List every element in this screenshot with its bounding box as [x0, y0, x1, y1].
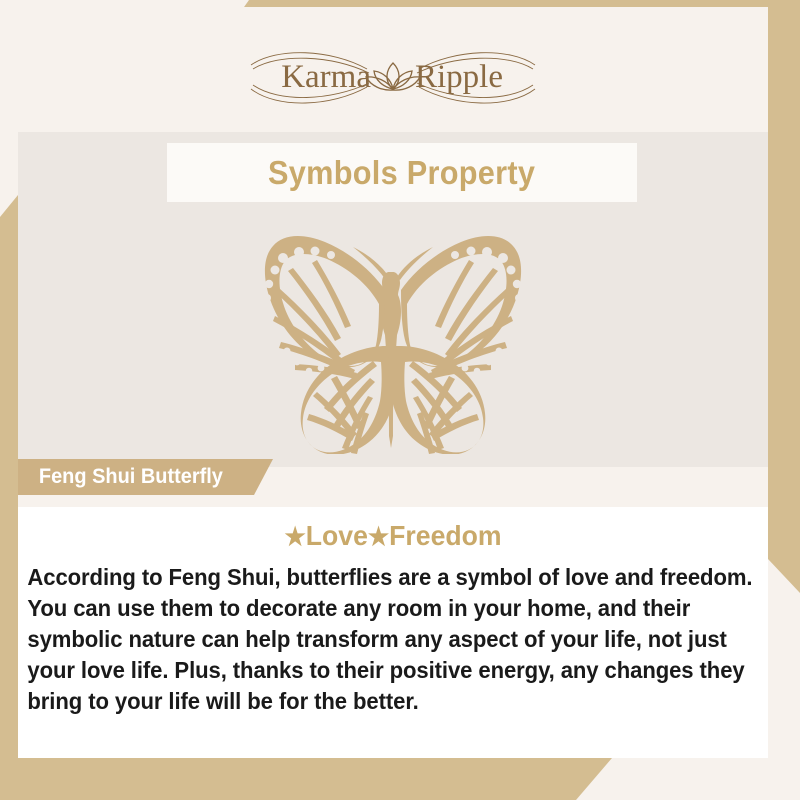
frame-right-accent	[768, 48, 800, 593]
content-card: Karma Ripple Symbols Property	[18, 7, 768, 758]
frame-left-accent	[0, 195, 18, 765]
description-paragraph: According to Feng Shui, butterflies are …	[18, 552, 753, 717]
description-panel: ★Love★Freedom According to Feng Shui, bu…	[18, 507, 768, 758]
keyword-love: Love	[306, 520, 368, 551]
keywords-heading: ★Love★Freedom	[37, 507, 750, 552]
star-icon-left: ★	[284, 523, 305, 551]
category-tab-label: Feng Shui Butterfly	[18, 465, 223, 489]
hero-section: Symbols Property	[18, 132, 768, 467]
logo-word-ripple: Ripple	[415, 59, 503, 95]
category-tab[interactable]: Feng Shui Butterfly	[18, 459, 273, 495]
star-icon-right: ★	[368, 523, 389, 551]
page-root: Karma Ripple Symbols Property	[0, 0, 800, 800]
karma-ripple-logo-icon: Karma Ripple	[243, 43, 543, 113]
page-title: Symbols Property	[268, 154, 535, 192]
page-title-banner: Symbols Property	[167, 143, 637, 202]
frame-bottom-accent	[0, 758, 612, 800]
butterfly-illustration	[18, 224, 768, 464]
butterfly-icon	[217, 234, 569, 454]
logo-word-karma: Karma	[281, 59, 371, 95]
brand-logo: Karma Ripple	[18, 39, 768, 117]
keyword-freedom: Freedom	[389, 520, 501, 551]
